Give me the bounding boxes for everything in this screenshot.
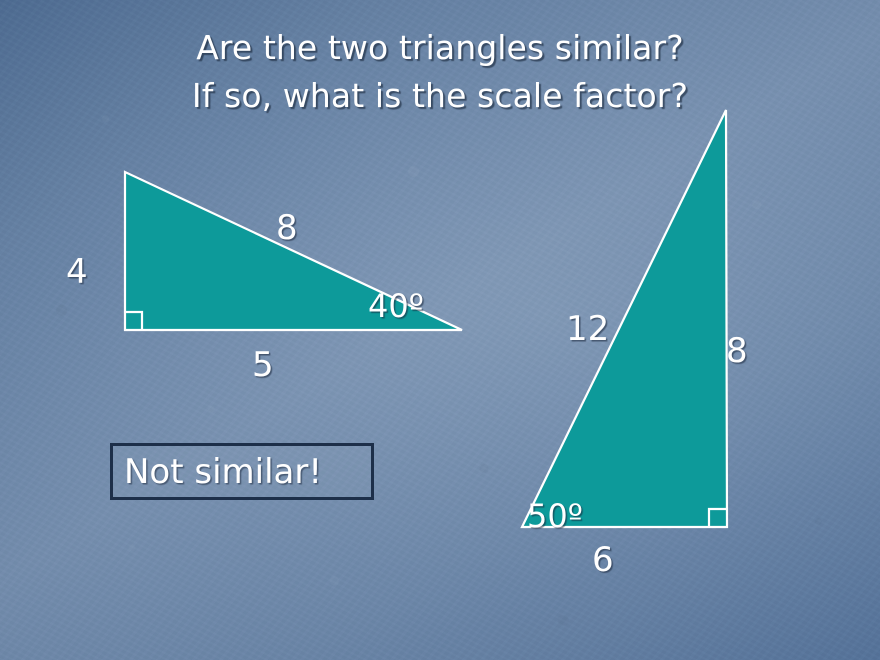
answer-box: Not similar! [110,443,374,500]
right-triangle-vertical-leg-label: 8 [726,334,748,368]
right-triangle-hypotenuse-label: 12 [566,312,609,346]
right-triangle-shape [522,110,727,527]
right-triangle-angle-label: 50º [527,500,583,532]
left-triangle-hypotenuse-label: 8 [276,211,298,245]
left-triangle-vertical-leg-label: 4 [66,255,88,289]
triangles-figure [0,0,880,660]
left-triangle-horizontal-leg-label: 5 [252,348,274,382]
right-triangle-horizontal-leg-label: 6 [592,543,614,577]
slide-canvas: Are the two triangles similar? If so, wh… [0,0,880,660]
left-triangle-angle-label: 40º [368,290,424,322]
answer-text: Not similar! [113,454,322,490]
